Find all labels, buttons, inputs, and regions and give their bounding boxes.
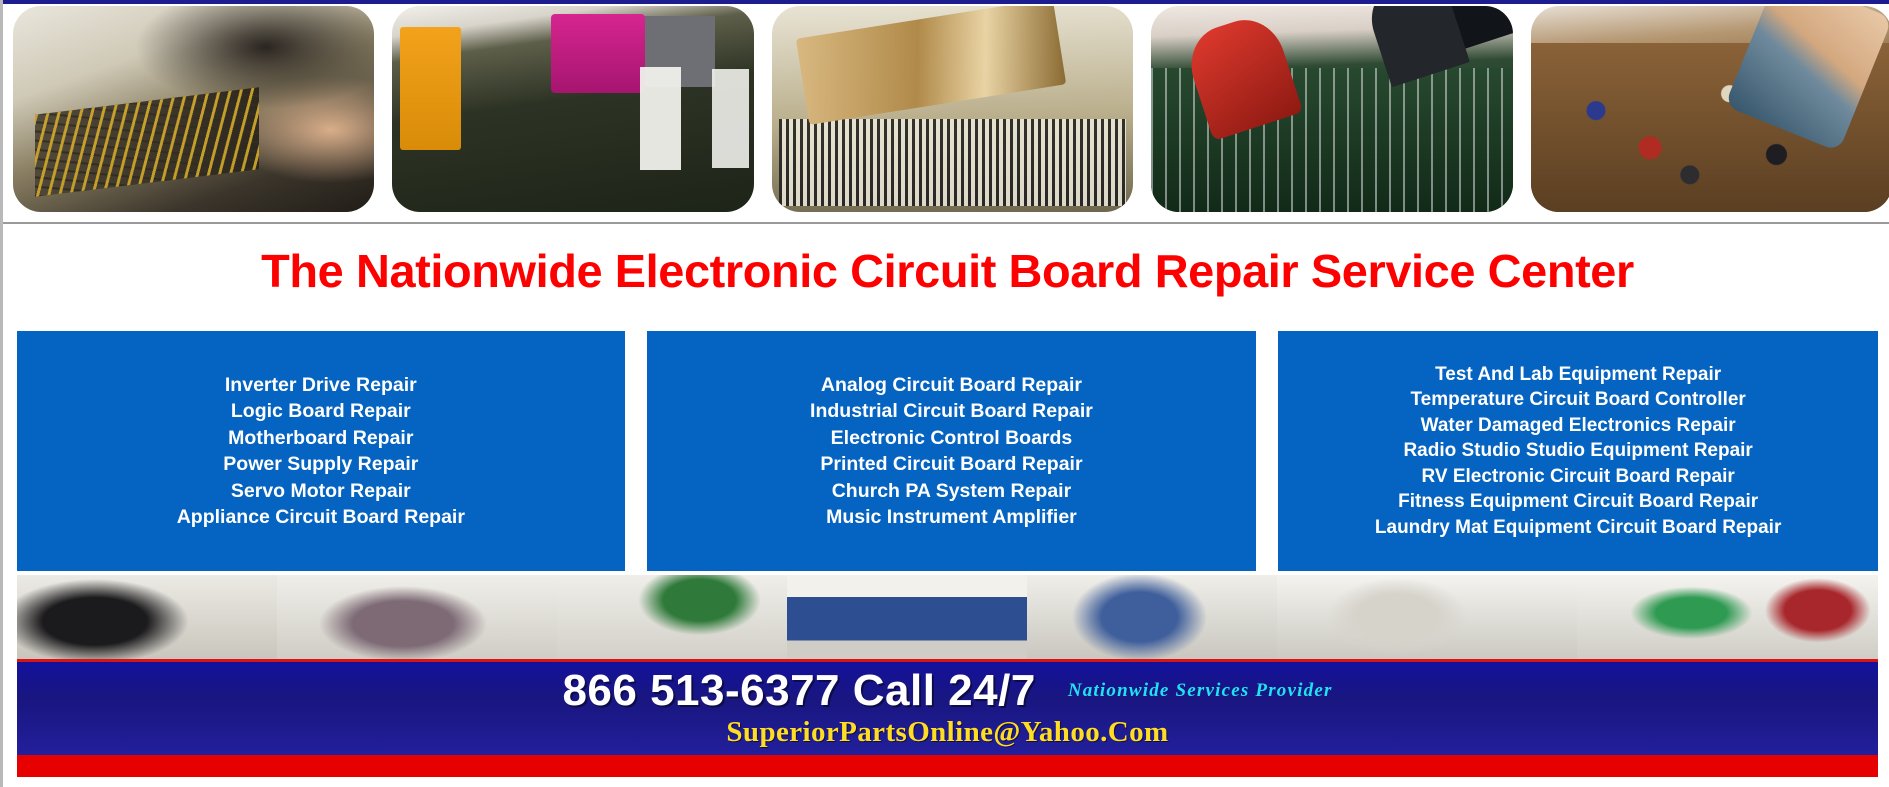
photo-strip (13, 6, 1889, 218)
office-photo-segment (787, 575, 1027, 659)
service-item[interactable]: Fitness Equipment Circuit Board Repair (1398, 489, 1758, 515)
circuit-board-repair-technician-photo (13, 6, 374, 212)
office-photo-segment (1277, 575, 1577, 659)
cta-row: 866 513-6377 Call 24/7 Nationwide Servic… (17, 662, 1878, 720)
office-photo-segment (17, 575, 277, 659)
motherboard-closeup-photo (392, 6, 753, 212)
service-item[interactable]: Logic Board Repair (231, 398, 411, 425)
service-item[interactable]: Test And Lab Equipment Repair (1435, 362, 1721, 388)
service-item[interactable]: RV Electronic Circuit Board Repair (1422, 464, 1735, 490)
office-photo-segment (557, 575, 787, 659)
service-item[interactable]: Church PA System Repair (832, 478, 1071, 505)
office-photo-segment (1577, 575, 1878, 659)
service-item[interactable]: Industrial Circuit Board Repair (810, 398, 1093, 425)
call-to-action-banner: 866 513-6377 Call 24/7 Nationwide Servic… (17, 659, 1878, 755)
top-navy-rule (3, 0, 1889, 4)
office-photo-segment (277, 575, 557, 659)
services-column-2: Analog Circuit Board Repair Industrial C… (647, 331, 1257, 571)
services-column-1: Inverter Drive Repair Logic Board Repair… (17, 331, 625, 571)
services-column-3: Test And Lab Equipment Repair Temperatur… (1278, 331, 1878, 571)
service-item[interactable]: Laundry Mat Equipment Circuit Board Repa… (1375, 515, 1781, 541)
service-item[interactable]: Printed Circuit Board Repair (820, 451, 1082, 478)
service-item[interactable]: Appliance Circuit Board Repair (177, 504, 465, 531)
page-title: The Nationwide Electronic Circuit Board … (0, 244, 1889, 298)
photo-strip-divider (3, 222, 1889, 224)
service-item[interactable]: Inverter Drive Repair (225, 372, 417, 399)
pcb-slots-photo (772, 6, 1133, 212)
service-item[interactable]: Water Damaged Electronics Repair (1421, 413, 1736, 439)
bottom-white-strip (3, 777, 1889, 787)
email-address[interactable]: SuperiorPartsOnline@Yahoo.Com (17, 716, 1878, 749)
bottom-red-bar (17, 755, 1878, 777)
service-item[interactable]: Music Instrument Amplifier (826, 504, 1077, 531)
phone-number[interactable]: 866 513-6377 Call 24/7 (562, 666, 1035, 716)
service-item[interactable]: Temperature Circuit Board Controller (1410, 387, 1745, 413)
component-desoldering-photo (1531, 6, 1889, 212)
service-item[interactable]: Motherboard Repair (228, 425, 413, 452)
page-root: The Nationwide Electronic Circuit Board … (0, 0, 1889, 787)
nationwide-tagline: Nationwide Services Provider (1068, 680, 1333, 702)
service-item[interactable]: Radio Studio Studio Equipment Repair (1403, 438, 1752, 464)
service-item[interactable]: Analog Circuit Board Repair (821, 372, 1082, 399)
multimeter-probes-photo (1151, 6, 1512, 212)
service-item[interactable]: Servo Motor Repair (231, 478, 411, 505)
office-photo-band (17, 575, 1878, 659)
office-photo-segment (1027, 575, 1277, 659)
service-item[interactable]: Power Supply Repair (223, 451, 418, 478)
service-columns: Inverter Drive Repair Logic Board Repair… (17, 331, 1878, 571)
service-item[interactable]: Electronic Control Boards (831, 425, 1073, 452)
